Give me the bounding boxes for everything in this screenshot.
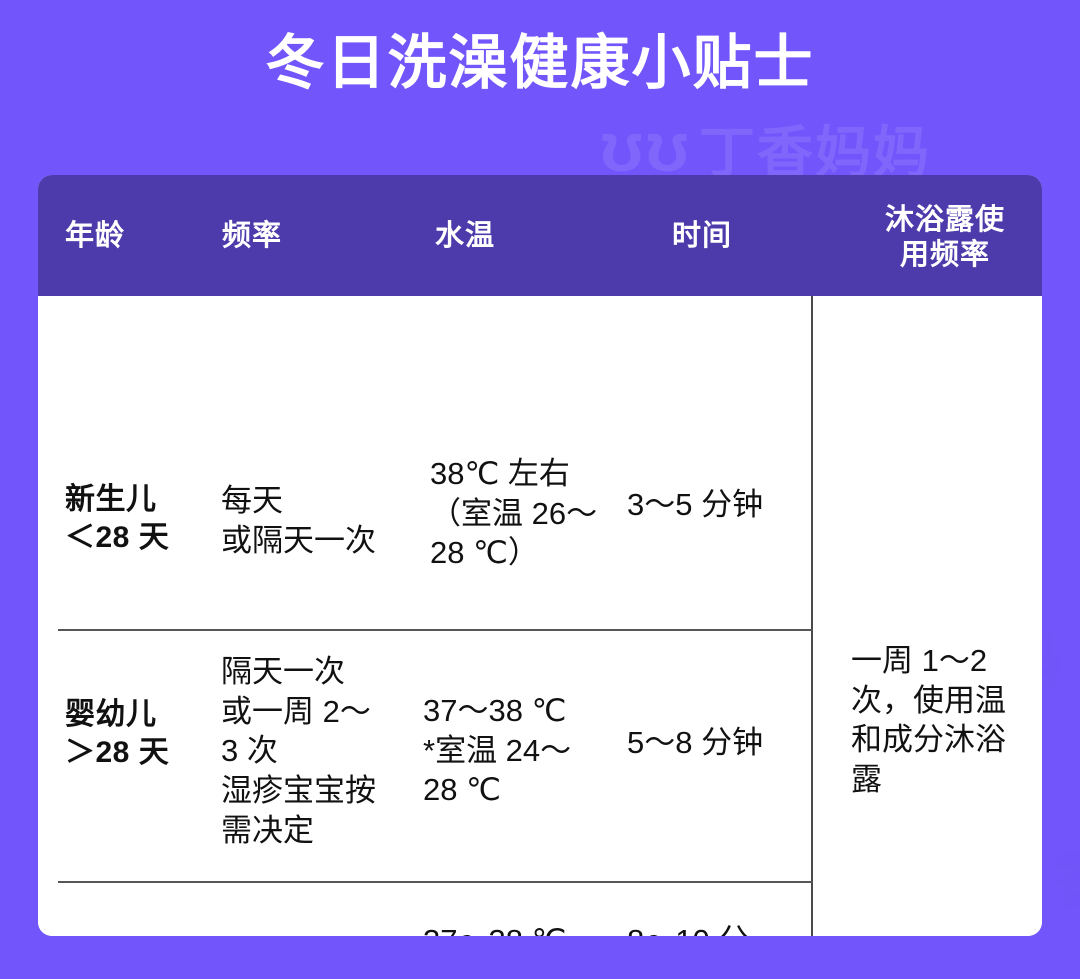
cell-water-temperature: 37～38 ℃ *室温 24～ 28 ℃ [423,691,613,810]
poster-root: ʊʊ 丁香妈妈 ʊʊ 丁香妈妈 ʊʊ 丁香妈妈 ʊʊ 丁香妈妈 冬日洗澡健康小贴… [0,0,1080,979]
cell-duration: 3～5 分钟 [627,485,763,525]
column-header-age: 年龄 [65,219,125,254]
column-header-frequency: 频率 [222,219,282,254]
column-header-body-wash-frequency: 沐浴露使 用频率 [848,203,1042,274]
row-divider [58,881,813,883]
table-header-row: 年龄 频率 水温 时间 沐浴露使 用频率 [38,175,1042,296]
cell-body-wash-frequency: 一周 1～2 次，使用温 和成分沐浴 露 [851,641,1021,800]
table-body: 新生儿 ＜28 天 每天 或隔天一次 38℃ 左右 （室温 26～ 28 ℃） … [38,296,1042,936]
cell-age: 新生儿 ＜28 天 [65,481,169,558]
cell-frequency: 隔天一次 或一周 2～ 3 次 湿疹宝宝按 需决定 [221,652,376,850]
cell-duration: 8～10 分 钟，不超过 20 分钟 [627,921,802,936]
column-header-water-temperature: 水温 [435,219,495,254]
cell-water-temperature: 37～38 ℃ 不建议超过 40 ℃ [423,921,628,936]
page-title: 冬日洗澡健康小贴士 [0,28,1080,99]
column-divider [811,296,813,936]
cell-water-temperature: 38℃ 左右 （室温 26～ 28 ℃） [430,454,615,573]
cell-duration: 5～8 分钟 [627,723,763,763]
cell-age: 婴幼儿 ＞28 天 [65,696,169,773]
cell-frequency: 每天 或隔天一次 [221,481,376,560]
column-header-duration: 时间 [672,219,732,254]
tips-table: 年龄 频率 水温 时间 沐浴露使 用频率 新生儿 ＜28 天 每天 或隔天一次 … [38,175,1042,936]
row-divider [58,629,813,631]
